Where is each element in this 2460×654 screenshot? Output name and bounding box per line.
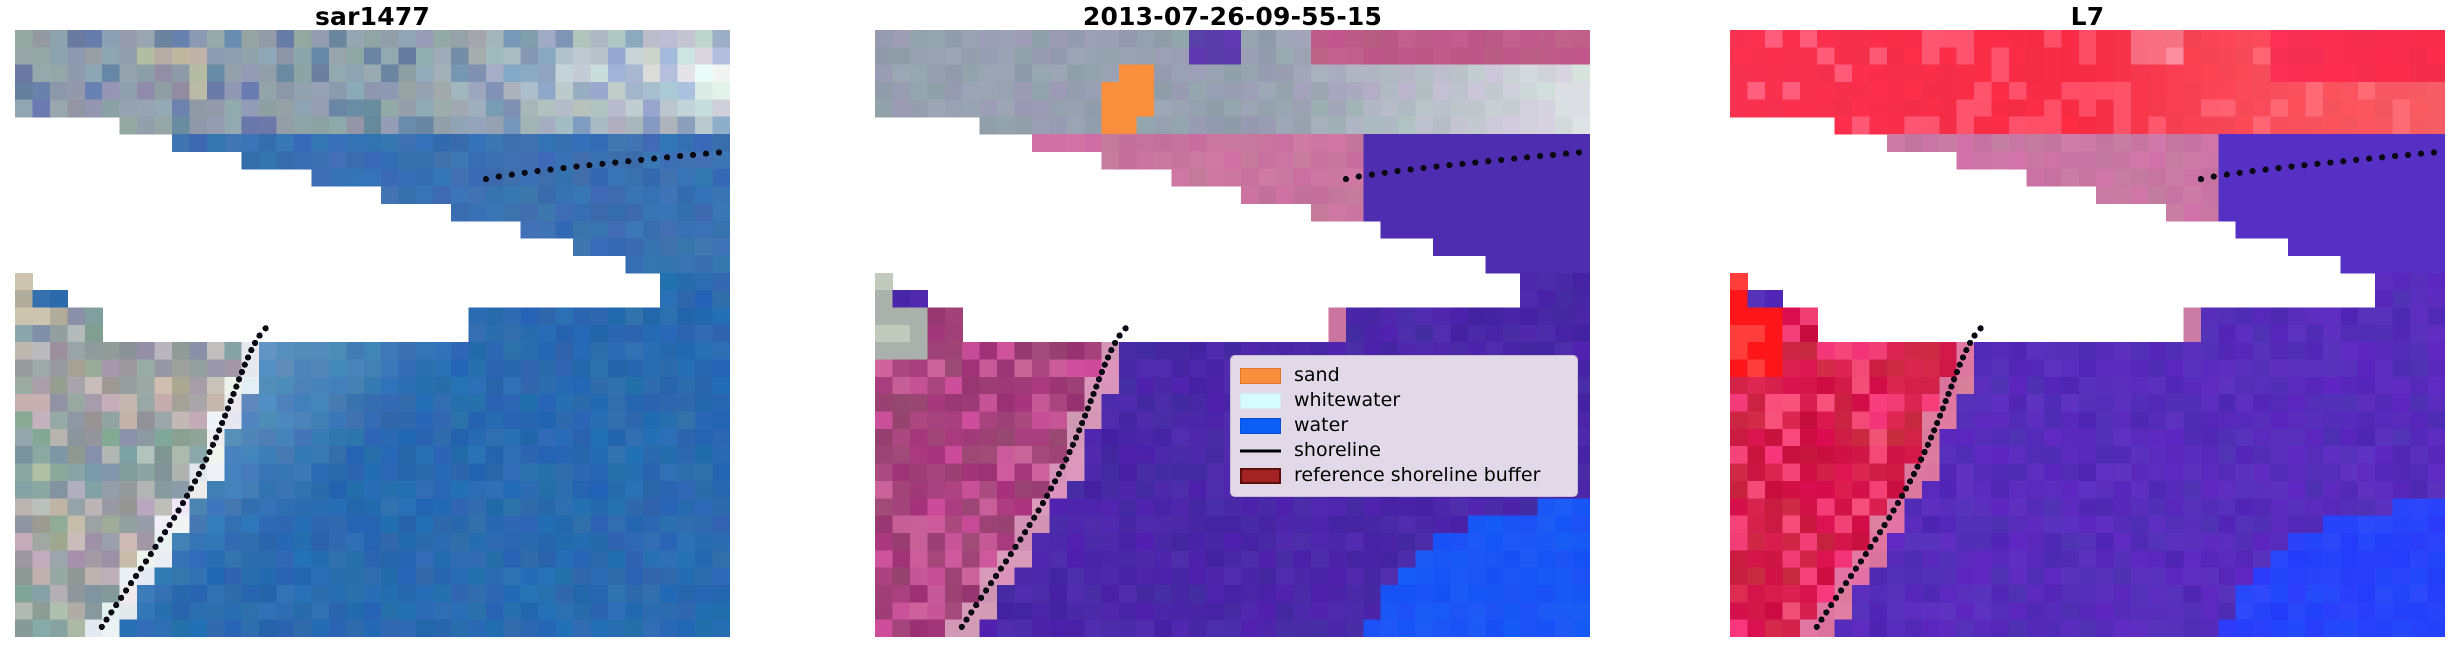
legend-label-whitewater: whitewater [1294,391,1400,410]
figure-canvas: sar1477 2013-07-26-09-55-15 L7 [0,0,2460,654]
sand-swatch-icon [1240,368,1281,384]
whitewater-swatch-icon [1240,393,1281,409]
legend-item-water: water [1240,413,1568,438]
legend-label-reference-buffer: reference shoreline buffer [1294,466,1540,485]
panel-sar1477: sar1477 [15,30,730,637]
water-swatch-icon [1240,418,1281,434]
legend-label-water: water [1294,416,1348,435]
axes-classified-image [875,30,1590,637]
legend-box: sand whitewater water shoreline referenc… [1230,355,1578,497]
legend-item-whitewater: whitewater [1240,388,1568,413]
panel-title-1: sar1477 [15,2,730,31]
panel-classified: 2013-07-26-09-55-15 [875,30,1590,637]
panel-title-2: 2013-07-26-09-55-15 [875,2,1590,31]
axes-index-image [1730,30,2445,637]
panel-title-3: L7 [1730,2,2445,31]
reference-buffer-swatch-icon [1240,468,1281,484]
legend-label-sand: sand [1294,366,1340,385]
legend-label-shoreline: shoreline [1294,441,1381,460]
axes-rgb-image [15,30,730,637]
shoreline-line-icon [1240,443,1281,459]
legend-item-reference-buffer: reference shoreline buffer [1240,463,1568,488]
panel-L7: L7 [1730,30,2445,637]
legend-item-shoreline: shoreline [1240,438,1568,463]
legend-item-sand: sand [1240,363,1568,388]
